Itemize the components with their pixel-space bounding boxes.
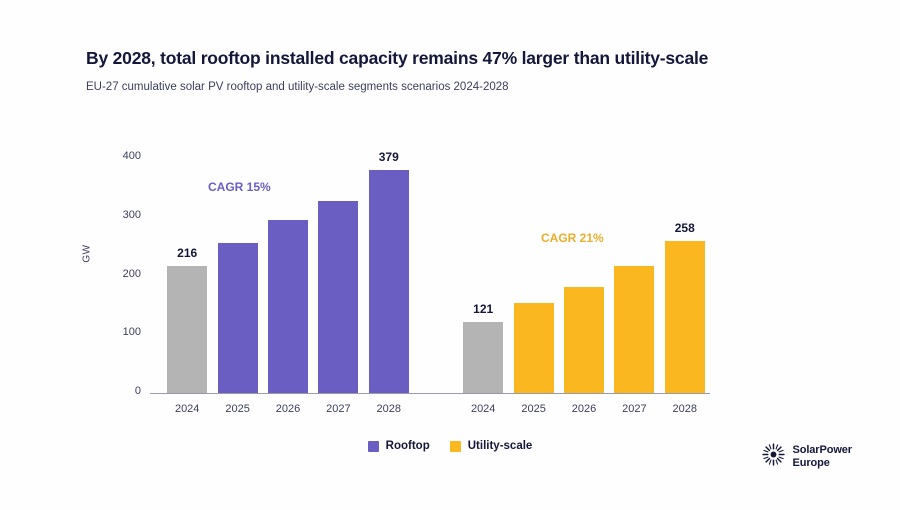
y-tick-label: 100 <box>97 326 141 338</box>
bar-utility-scale-2024[interactable]: 1212024 <box>463 322 503 393</box>
x-tick-label: 2027 <box>326 403 350 415</box>
y-tick-label: 400 <box>97 150 141 162</box>
sun-starburst-icon <box>762 443 785 471</box>
bar-slot: 3792028 <box>364 157 414 393</box>
bar-slot: 2027 <box>313 157 363 393</box>
legend-label: Rooftop <box>386 440 430 452</box>
bar-group-utility: 12120242025202620272582028 <box>458 157 710 393</box>
bar-value-label: 379 <box>379 150 399 164</box>
legend-label: Utility-scale <box>468 440 533 452</box>
bar-utility-scale-2025[interactable]: 2025 <box>514 303 554 393</box>
logo-text-line2: Europe <box>792 457 829 469</box>
y-tick-label: 0 <box>97 385 141 397</box>
logo-text: SolarPower Europe <box>792 444 852 469</box>
cagr-annotation-rooftop: CAGR 15% <box>208 180 271 194</box>
bar-utility-scale-2026[interactable]: 2026 <box>564 287 604 393</box>
y-tick-label: 300 <box>97 209 141 221</box>
x-tick-label: 2024 <box>175 403 199 415</box>
solarpower-europe-logo: SolarPower Europe <box>762 443 852 471</box>
bar-rooftop-2026[interactable]: 2026 <box>268 220 308 393</box>
bar-group-rooftop: 21620242025202620273792028 <box>162 157 414 393</box>
legend-swatch-icon <box>368 441 379 452</box>
bar-rooftop-2028[interactable]: 3792028 <box>369 170 409 393</box>
bar-utility-scale-2028[interactable]: 2582028 <box>665 241 705 393</box>
x-tick-label: 2028 <box>673 403 697 415</box>
x-axis-baseline <box>150 393 710 394</box>
bar-slot: 2582028 <box>660 157 710 393</box>
bar-utility-scale-2027[interactable]: 2027 <box>614 266 654 393</box>
bar-rooftop-2024[interactable]: 2162024 <box>167 266 207 393</box>
bar-chart-plot: GW 0100200300400 21620242025202620273792… <box>0 0 900 510</box>
legend-item-rooftop[interactable]: Rooftop <box>368 440 430 452</box>
cagr-annotation-utility: CAGR 21% <box>541 231 604 245</box>
bar-value-label: 121 <box>473 302 493 316</box>
bar-value-label: 216 <box>177 246 197 260</box>
x-tick-label: 2026 <box>276 403 300 415</box>
bar-slot: 2162024 <box>162 157 212 393</box>
y-tick-label: 200 <box>97 268 141 280</box>
legend-swatch-icon <box>450 441 461 452</box>
bar-slot: 2025 <box>508 157 558 393</box>
x-tick-label: 2027 <box>622 403 646 415</box>
logo-text-line1: SolarPower <box>792 444 852 456</box>
bar-value-label: 258 <box>675 221 695 235</box>
bar-slot: 2026 <box>559 157 609 393</box>
legend-item-utility-scale[interactable]: Utility-scale <box>450 440 533 452</box>
x-tick-label: 2025 <box>521 403 545 415</box>
x-tick-label: 2028 <box>377 403 401 415</box>
x-tick-label: 2024 <box>471 403 495 415</box>
bar-slot: 1212024 <box>458 157 508 393</box>
bar-slot: 2027 <box>609 157 659 393</box>
x-tick-label: 2025 <box>225 403 249 415</box>
x-tick-label: 2026 <box>572 403 596 415</box>
y-axis-title: GW <box>82 244 93 262</box>
bar-rooftop-2027[interactable]: 2027 <box>318 201 358 393</box>
bar-rooftop-2025[interactable]: 2025 <box>218 243 258 393</box>
